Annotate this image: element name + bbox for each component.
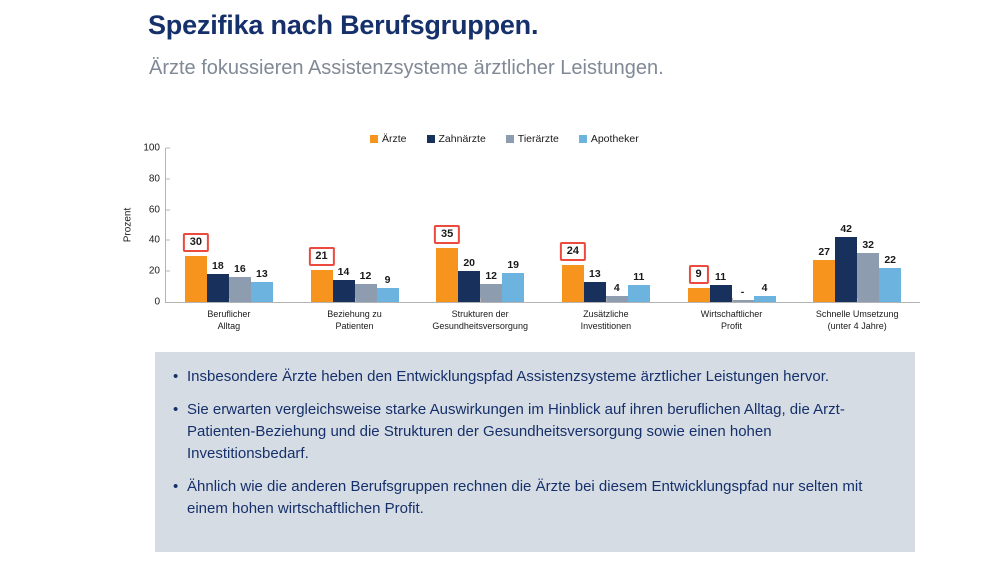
bar-column[interactable]: 19: [502, 148, 524, 302]
bar-value: 18: [212, 260, 224, 272]
bar-group-bars: 911-4: [669, 148, 795, 302]
bar[interactable]: [732, 300, 754, 302]
bar[interactable]: [311, 270, 333, 302]
bar-group-bars: 30181613: [166, 148, 292, 302]
x-axis-group-label: Beziehung zuPatienten: [287, 309, 422, 332]
bar-column[interactable]: 22: [879, 148, 901, 302]
x-axis-group-label-line: Strukturen der: [413, 309, 548, 321]
bar-value-highlighted: 30: [183, 233, 209, 252]
bullet-marker-icon: •: [173, 476, 187, 498]
x-axis-group-label: ZusätzlicheInvestitionen: [538, 309, 673, 332]
x-axis-group-label-line: Wirtschaftlicher: [664, 309, 799, 321]
bar-column[interactable]: 9: [377, 148, 399, 302]
bar-group: 30181613BeruflicherAlltag: [166, 148, 292, 302]
bar[interactable]: [458, 271, 480, 302]
y-axis-tick-label: 0: [154, 297, 166, 308]
bar-value: 13: [589, 268, 601, 280]
bar-group-bars: 35201219: [417, 148, 543, 302]
bar-value: 22: [884, 254, 896, 266]
bar-group: 2114129Beziehung zuPatienten: [292, 148, 418, 302]
bar-value: 4: [762, 282, 768, 294]
bar[interactable]: [754, 296, 776, 302]
y-axis-tick-label: 80: [149, 173, 166, 184]
bar-value: -: [741, 286, 745, 298]
bar-column[interactable]: 11: [710, 148, 732, 302]
bar-column[interactable]: 35: [436, 148, 458, 302]
bar-column[interactable]: 4: [754, 148, 776, 302]
x-axis-group-label-line: (unter 4 Jahre): [790, 321, 925, 333]
bar-column[interactable]: 13: [251, 148, 273, 302]
bar-value: 27: [818, 246, 830, 258]
legend-item[interactable]: Apotheker: [579, 133, 639, 145]
bar-value: 11: [715, 271, 726, 283]
bar[interactable]: [480, 284, 502, 302]
x-axis-tick-mark: [355, 298, 356, 302]
bar[interactable]: [606, 296, 628, 302]
bar-column[interactable]: 20: [458, 148, 480, 302]
legend-swatch-icon: [370, 135, 378, 143]
x-axis-group-label-line: Patienten: [287, 321, 422, 333]
bar-value: 9: [385, 274, 391, 286]
bar-group-bars: 27423222: [794, 148, 920, 302]
x-axis-tick-mark: [229, 298, 230, 302]
bar-value: 19: [507, 259, 519, 271]
x-axis-group-label: WirtschaftlicherProfit: [664, 309, 799, 332]
x-axis-tick-mark: [857, 298, 858, 302]
bar[interactable]: [436, 248, 458, 302]
bar-column[interactable]: 12: [480, 148, 502, 302]
bullet-marker-icon: •: [173, 366, 187, 388]
x-axis-group-label-line: Investitionen: [538, 321, 673, 333]
bar-value: 42: [840, 223, 852, 235]
y-axis-tick-label: 20: [149, 266, 166, 277]
bar-group: 911-4WirtschaftlicherProfit: [669, 148, 795, 302]
legend-label: Ärzte: [382, 133, 407, 145]
bar-value: 13: [256, 268, 268, 280]
bar-column[interactable]: 21: [311, 148, 333, 302]
bar-group: 27423222Schnelle Umsetzung(unter 4 Jahre…: [794, 148, 920, 302]
bar-column[interactable]: 32: [857, 148, 879, 302]
bar-column[interactable]: 13: [584, 148, 606, 302]
page-title: Spezifika nach Berufsgruppen.: [148, 10, 538, 41]
x-axis-tick-mark: [606, 298, 607, 302]
y-axis-tick-label: 100: [143, 143, 166, 154]
bar-value-highlighted: 24: [560, 242, 586, 261]
bar[interactable]: [813, 260, 835, 302]
x-axis-tick-mark: [732, 298, 733, 302]
bar-column[interactable]: 24: [562, 148, 584, 302]
bar-group: 2413411ZusätzlicheInvestitionen: [543, 148, 669, 302]
legend-item[interactable]: Ärzte: [370, 133, 407, 145]
bar[interactable]: [562, 265, 584, 302]
bar-value: 14: [338, 266, 350, 278]
bar[interactable]: [710, 285, 732, 302]
bar[interactable]: [879, 268, 901, 302]
bar[interactable]: [857, 253, 879, 302]
bar[interactable]: [835, 237, 857, 302]
bar-column[interactable]: 4: [606, 148, 628, 302]
legend-swatch-icon: [506, 135, 514, 143]
page-subtitle: Ärzte fokussieren Assistenzsysteme ärztl…: [149, 57, 664, 80]
bar[interactable]: [355, 284, 377, 302]
bullet-text: Insbesondere Ärzte heben den Entwicklung…: [187, 366, 893, 388]
commentary-panel: •Insbesondere Ärzte heben den Entwicklun…: [155, 352, 915, 552]
bar[interactable]: [229, 277, 251, 302]
x-axis-group-label-line: Alltag: [161, 321, 296, 333]
bar-value: 12: [485, 270, 497, 282]
bar-column[interactable]: 16: [229, 148, 251, 302]
x-axis-tick-mark: [480, 298, 481, 302]
x-axis-group-label-line: Beruflicher: [161, 309, 296, 321]
bar-column[interactable]: 18: [207, 148, 229, 302]
bullet-text: Ähnlich wie die anderen Berufsgruppen re…: [187, 476, 893, 520]
bar-chart: ÄrzteZahnärzteTierärzteApotheker Prozent…: [120, 130, 920, 345]
x-axis-group-label-line: Schnelle Umsetzung: [790, 309, 925, 321]
legend-swatch-icon: [427, 135, 435, 143]
bullet-item: •Sie erwarten vergleichsweise starke Aus…: [173, 399, 893, 465]
y-axis-tick-label: 60: [149, 204, 166, 215]
bar[interactable]: [628, 285, 650, 302]
bar[interactable]: [502, 273, 524, 302]
bar-value: 32: [862, 239, 874, 251]
y-axis-label: Prozent: [123, 208, 134, 242]
x-axis-group-label-line: Gesundheitsversorgung: [413, 321, 548, 333]
bar-column[interactable]: 30: [185, 148, 207, 302]
bar[interactable]: [185, 256, 207, 302]
legend-item[interactable]: Zahnärzte: [427, 133, 486, 145]
chart-legend: ÄrzteZahnärzteTierärzteApotheker: [370, 133, 639, 145]
chart-plot-area: Prozent 020406080100 30181613Beruflicher…: [165, 148, 920, 303]
bar-group: 35201219Strukturen derGesundheitsversorg…: [417, 148, 543, 302]
x-axis-group-label-line: Beziehung zu: [287, 309, 422, 321]
bar-column[interactable]: 14: [333, 148, 355, 302]
bar-value: 20: [463, 257, 475, 269]
x-axis-group-label-line: Zusätzliche: [538, 309, 673, 321]
legend-label: Zahnärzte: [439, 133, 486, 145]
bar-column[interactable]: 9: [688, 148, 710, 302]
x-axis-group-label-line: Profit: [664, 321, 799, 333]
bar-column[interactable]: 27: [813, 148, 835, 302]
bullet-marker-icon: •: [173, 399, 187, 421]
bar-value-highlighted: 21: [308, 247, 334, 266]
x-axis-group-label: BeruflicherAlltag: [161, 309, 296, 332]
bar[interactable]: [377, 288, 399, 302]
bullet-item: •Insbesondere Ärzte heben den Entwicklun…: [173, 366, 893, 388]
bar-column[interactable]: 42: [835, 148, 857, 302]
bar-value-highlighted: 9: [688, 265, 708, 284]
bar[interactable]: [333, 280, 355, 302]
bar-group-bars: 2114129: [292, 148, 418, 302]
bullet-item: •Ähnlich wie die anderen Berufsgruppen r…: [173, 476, 893, 520]
bar-column[interactable]: 11: [628, 148, 650, 302]
bar-value: 12: [360, 270, 372, 282]
bar-value: 11: [633, 271, 644, 283]
legend-label: Tierärzte: [518, 133, 559, 145]
x-axis-group-label: Strukturen derGesundheitsversorgung: [413, 309, 548, 332]
bar[interactable]: [688, 288, 710, 302]
legend-item[interactable]: Tierärzte: [506, 133, 559, 145]
legend-swatch-icon: [579, 135, 587, 143]
bullet-text: Sie erwarten vergleichsweise starke Ausw…: [187, 399, 893, 465]
bar-group-bars: 2413411: [543, 148, 669, 302]
bar[interactable]: [584, 282, 606, 302]
bar-column[interactable]: 12: [355, 148, 377, 302]
slide-root: Spezifika nach Berufsgruppen. Ärzte foku…: [0, 0, 1000, 562]
bar-value: 16: [234, 263, 246, 275]
legend-label: Apotheker: [591, 133, 639, 145]
bar-groups: 30181613BeruflicherAlltag2114129Beziehun…: [166, 148, 920, 302]
y-axis-tick-label: 40: [149, 235, 166, 246]
bar-value: 4: [614, 282, 620, 294]
bar[interactable]: [207, 274, 229, 302]
bar[interactable]: [251, 282, 273, 302]
bar-column[interactable]: -: [732, 148, 754, 302]
x-axis-group-label: Schnelle Umsetzung(unter 4 Jahre): [790, 309, 925, 332]
bar-value-highlighted: 35: [434, 225, 460, 244]
